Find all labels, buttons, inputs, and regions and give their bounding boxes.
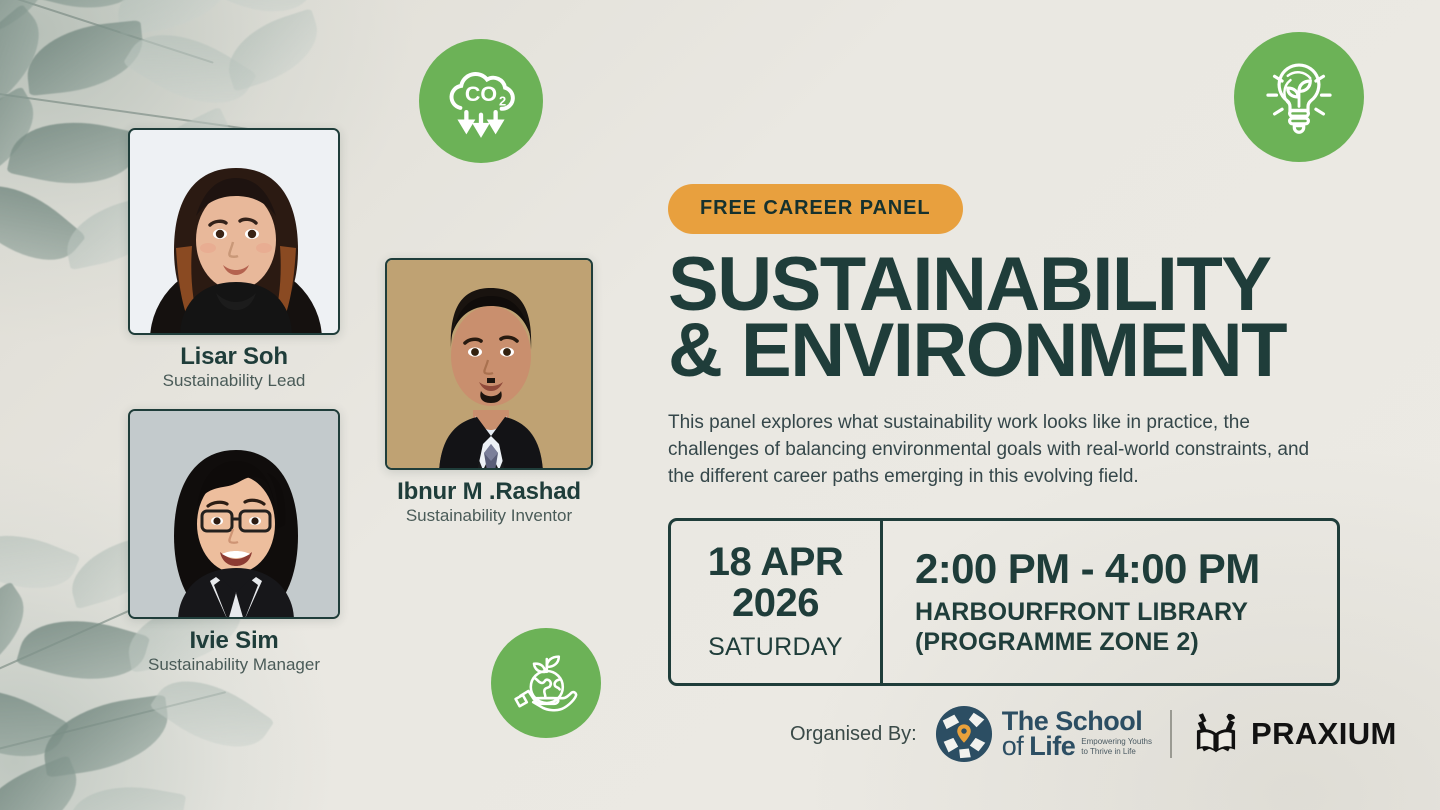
hand-holding-earth-icon [491, 628, 601, 738]
speaker-role-1: Sustainability Inventor [368, 506, 610, 526]
free-career-panel-badge: FREE CAREER PANEL [668, 184, 963, 234]
page-title: SUSTAINABILITY & ENVIRONMENT [668, 252, 1398, 384]
panel-description: This panel explores what sustainability … [668, 410, 1340, 491]
tsol-map-mark-icon: TS L [935, 705, 993, 763]
event-venue-line-2: (PROGRAMME ZONE 2) [915, 628, 1337, 658]
organised-by-label: Organised By: [790, 723, 917, 746]
speaker-card-0: Lisar Soh Sustainability Lead [112, 128, 356, 391]
speaker-photo-1 [385, 258, 593, 470]
speaker-role-2: Sustainability Manager [112, 655, 356, 675]
speaker-name-0: Lisar Soh [112, 344, 356, 369]
event-details-box: 18 APR 2026 SATURDAY 2:00 PM - 4:00 PM H… [668, 518, 1340, 686]
speaker-card-1: Ibnur M .Rashad Sustainability Inventor [368, 258, 610, 526]
event-date: 18 APR 2026 [708, 542, 844, 624]
speaker-photo-2 [128, 409, 340, 619]
event-date-line-1: 18 APR [708, 542, 844, 583]
speaker-role-0: Sustainability Lead [112, 371, 356, 391]
speaker-photo-0 [128, 128, 340, 335]
event-poster: CO 2 [0, 0, 1440, 810]
speaker-name-2: Ivie Sim [112, 628, 356, 653]
poster-content: FREE CAREER PANEL SUSTAINABILITY & ENVIR… [668, 0, 1398, 810]
event-time: 2:00 PM - 4:00 PM [915, 547, 1337, 591]
praxium-book-tools-icon [1190, 708, 1242, 760]
svg-text:CO: CO [465, 82, 497, 106]
tsol-line-1: The School [1002, 709, 1152, 734]
title-line-2: & ENVIRONMENT [668, 318, 1398, 384]
tsol-of-word: of [1002, 734, 1024, 759]
tsol-tagline-line-2: to Thrive in Life [1081, 747, 1136, 756]
footer-organisers: Organised By: TS L The School of Life [790, 705, 1397, 763]
tsol-tagline: Empowering Youths to Thrive in Life [1081, 737, 1152, 759]
event-date-block: 18 APR 2026 SATURDAY [671, 521, 883, 683]
speaker-name-1: Ibnur M .Rashad [368, 479, 610, 504]
event-date-line-2: 2026 [708, 583, 844, 624]
event-venue-line-1: HARBOURFRONT LIBRARY [915, 598, 1337, 628]
tsol-line-2: Life [1029, 734, 1075, 759]
praxium-logo: PRAXIUM [1190, 708, 1397, 760]
tsol-tagline-line-1: Empowering Youths [1081, 737, 1152, 746]
speaker-card-2: Ivie Sim Sustainability Manager [112, 409, 356, 675]
praxium-wordmark: PRAXIUM [1251, 716, 1397, 752]
footer-divider [1170, 710, 1172, 758]
svg-text:2: 2 [499, 93, 506, 108]
event-time-venue-block: 2:00 PM - 4:00 PM HARBOURFRONT LIBRARY (… [883, 521, 1337, 683]
co2-cloud-icon: CO 2 [419, 39, 543, 163]
school-of-life-logo: TS L The School of Life Empowering Youth… [935, 705, 1152, 763]
event-venue: HARBOURFRONT LIBRARY (PROGRAMME ZONE 2) [915, 598, 1337, 657]
event-weekday: SATURDAY [708, 633, 843, 662]
